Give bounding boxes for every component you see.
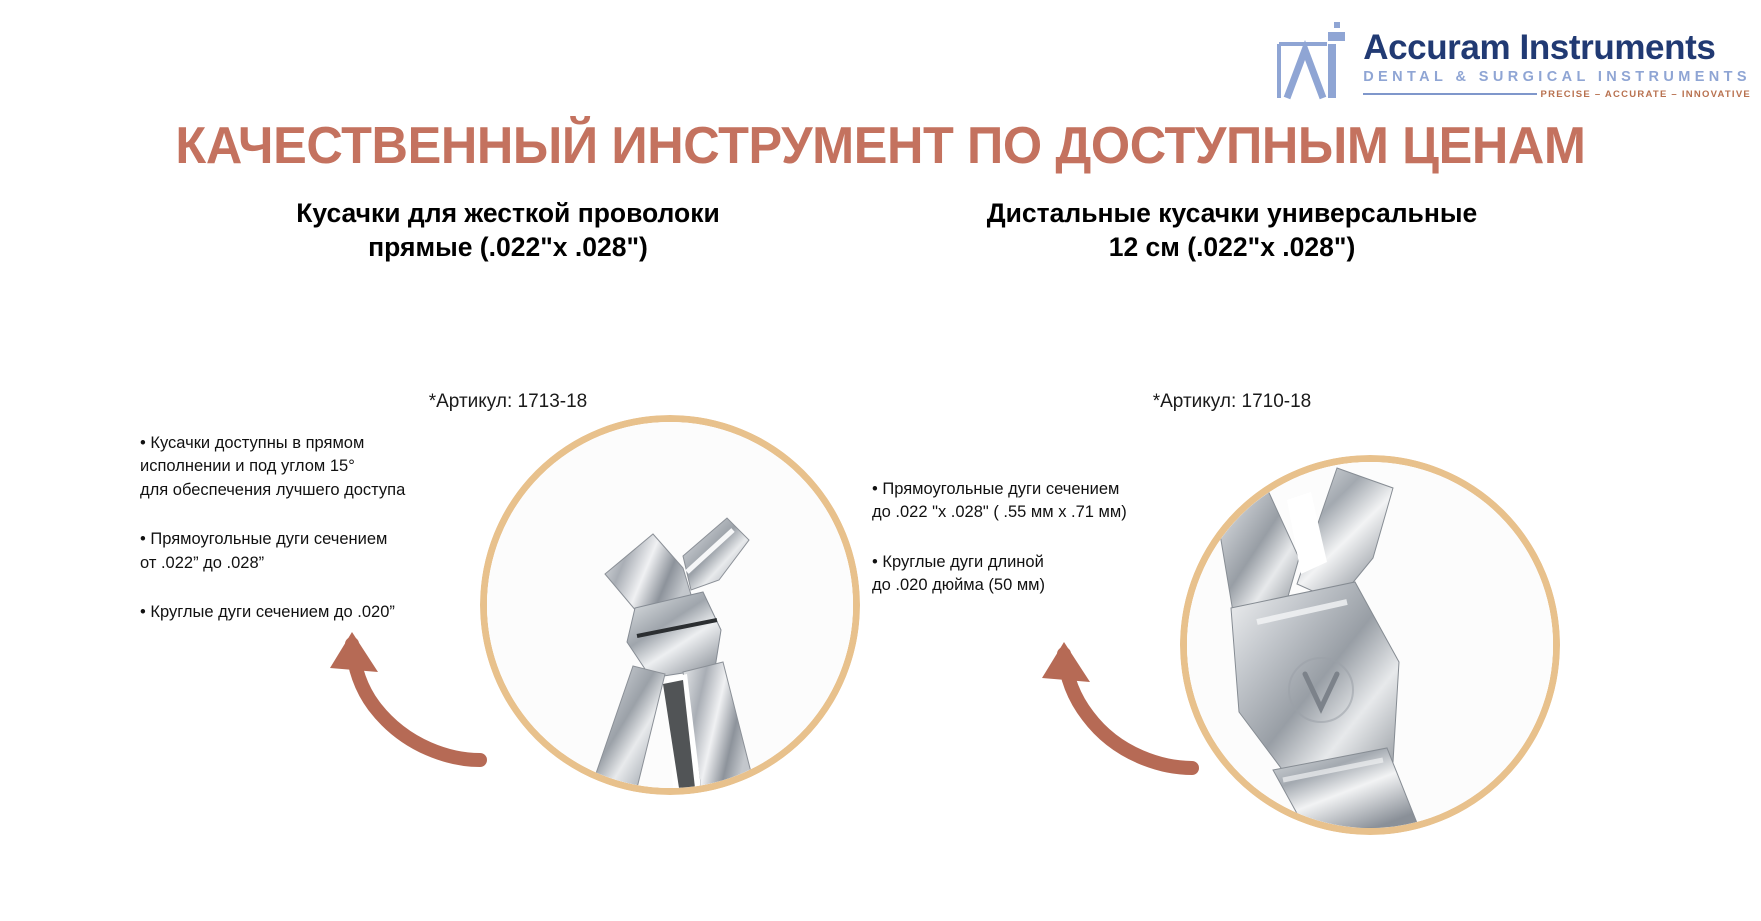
wire-cutter-illustration [487,422,853,788]
feature-line: • Прямоугольные дуги сечением [872,478,1202,501]
feature-line: до .020 дюйма (50 мм) [872,574,1202,597]
brand-name: Accuram Instruments [1363,30,1751,65]
feature-line: до .022 "х .028" ( .55 мм х .71 мм) [872,501,1202,524]
product-title-left-line2: прямые (.022"х .028") [158,230,858,264]
product-sku-right: *Артикул: 1710-18 [862,391,1602,413]
brand-tagline-row: PRECISE – ACCURATE – INNOVATIVE [1363,89,1751,100]
feature-line: • Прямоугольные дуги сечением [140,528,470,551]
feature-list-left: • Кусачки доступны в прямом исполнении и… [140,432,470,625]
brand-logo: Accuram Instruments DENTAL & SURGICAL IN… [1271,8,1751,100]
feature-item-right-1: • Прямоугольные дуги сечением до .022 "х… [872,478,1202,525]
feature-line: исполнении и под углом 15° [140,455,470,478]
product-image-left-inner [487,422,853,788]
feature-line: от .022” до .028” [140,552,470,575]
feature-item-right-2: • Круглые дуги длиной до .020 дюйма (50 … [872,551,1202,598]
distal-cutter-illustration [1187,462,1553,828]
brand-subtitle: DENTAL & SURGICAL INSTRUMENTS [1363,70,1751,85]
product-image-right [1180,455,1560,835]
product-image-left [480,415,860,795]
brand-tagline: PRECISE – ACCURATE – INNOVATIVE [1541,89,1751,100]
feature-list-right: • Прямоугольные дуги сечением до .022 "х… [872,478,1202,598]
product-image-right-inner [1187,462,1553,828]
feature-line: для обеспечения лучшего доступа [140,479,470,502]
product-title-right-line2: 12 см (.022"х .028") [862,230,1602,264]
product-sku-left: *Артикул: 1713-18 [158,391,858,413]
product-column-right: Дистальные кусачки универсальные 12 см (… [862,196,1602,413]
feature-line: • Кусачки доступны в прямом [140,432,470,455]
feature-line: • Круглые дуги длиной [872,551,1202,574]
ai-monogram-icon [1271,14,1357,100]
feature-item-left-1: • Кусачки доступны в прямом исполнении и… [140,432,470,502]
pointer-arrow-right [1040,628,1210,783]
brand-divider [1363,93,1536,95]
product-title-left-line1: Кусачки для жесткой проволоки [158,196,858,230]
slide-canvas: Accuram Instruments DENTAL & SURGICAL IN… [0,0,1761,921]
page-title: КАЧЕСТВЕННЫЙ ИНСТРУМЕНТ ПО ДОСТУПНЫМ ЦЕН… [26,116,1734,176]
product-column-left: Кусачки для жесткой проволоки прямые (.0… [158,196,858,413]
brand-wordmark: Accuram Instruments DENTAL & SURGICAL IN… [1363,8,1751,100]
product-title-right-line1: Дистальные кусачки универсальные [862,196,1602,230]
product-title-left: Кусачки для жесткой проволоки прямые (.0… [158,196,858,265]
product-title-right: Дистальные кусачки универсальные 12 см (… [862,196,1602,265]
pointer-arrow-left [330,610,500,775]
feature-item-left-2: • Прямоугольные дуги сечением от .022” д… [140,528,470,575]
